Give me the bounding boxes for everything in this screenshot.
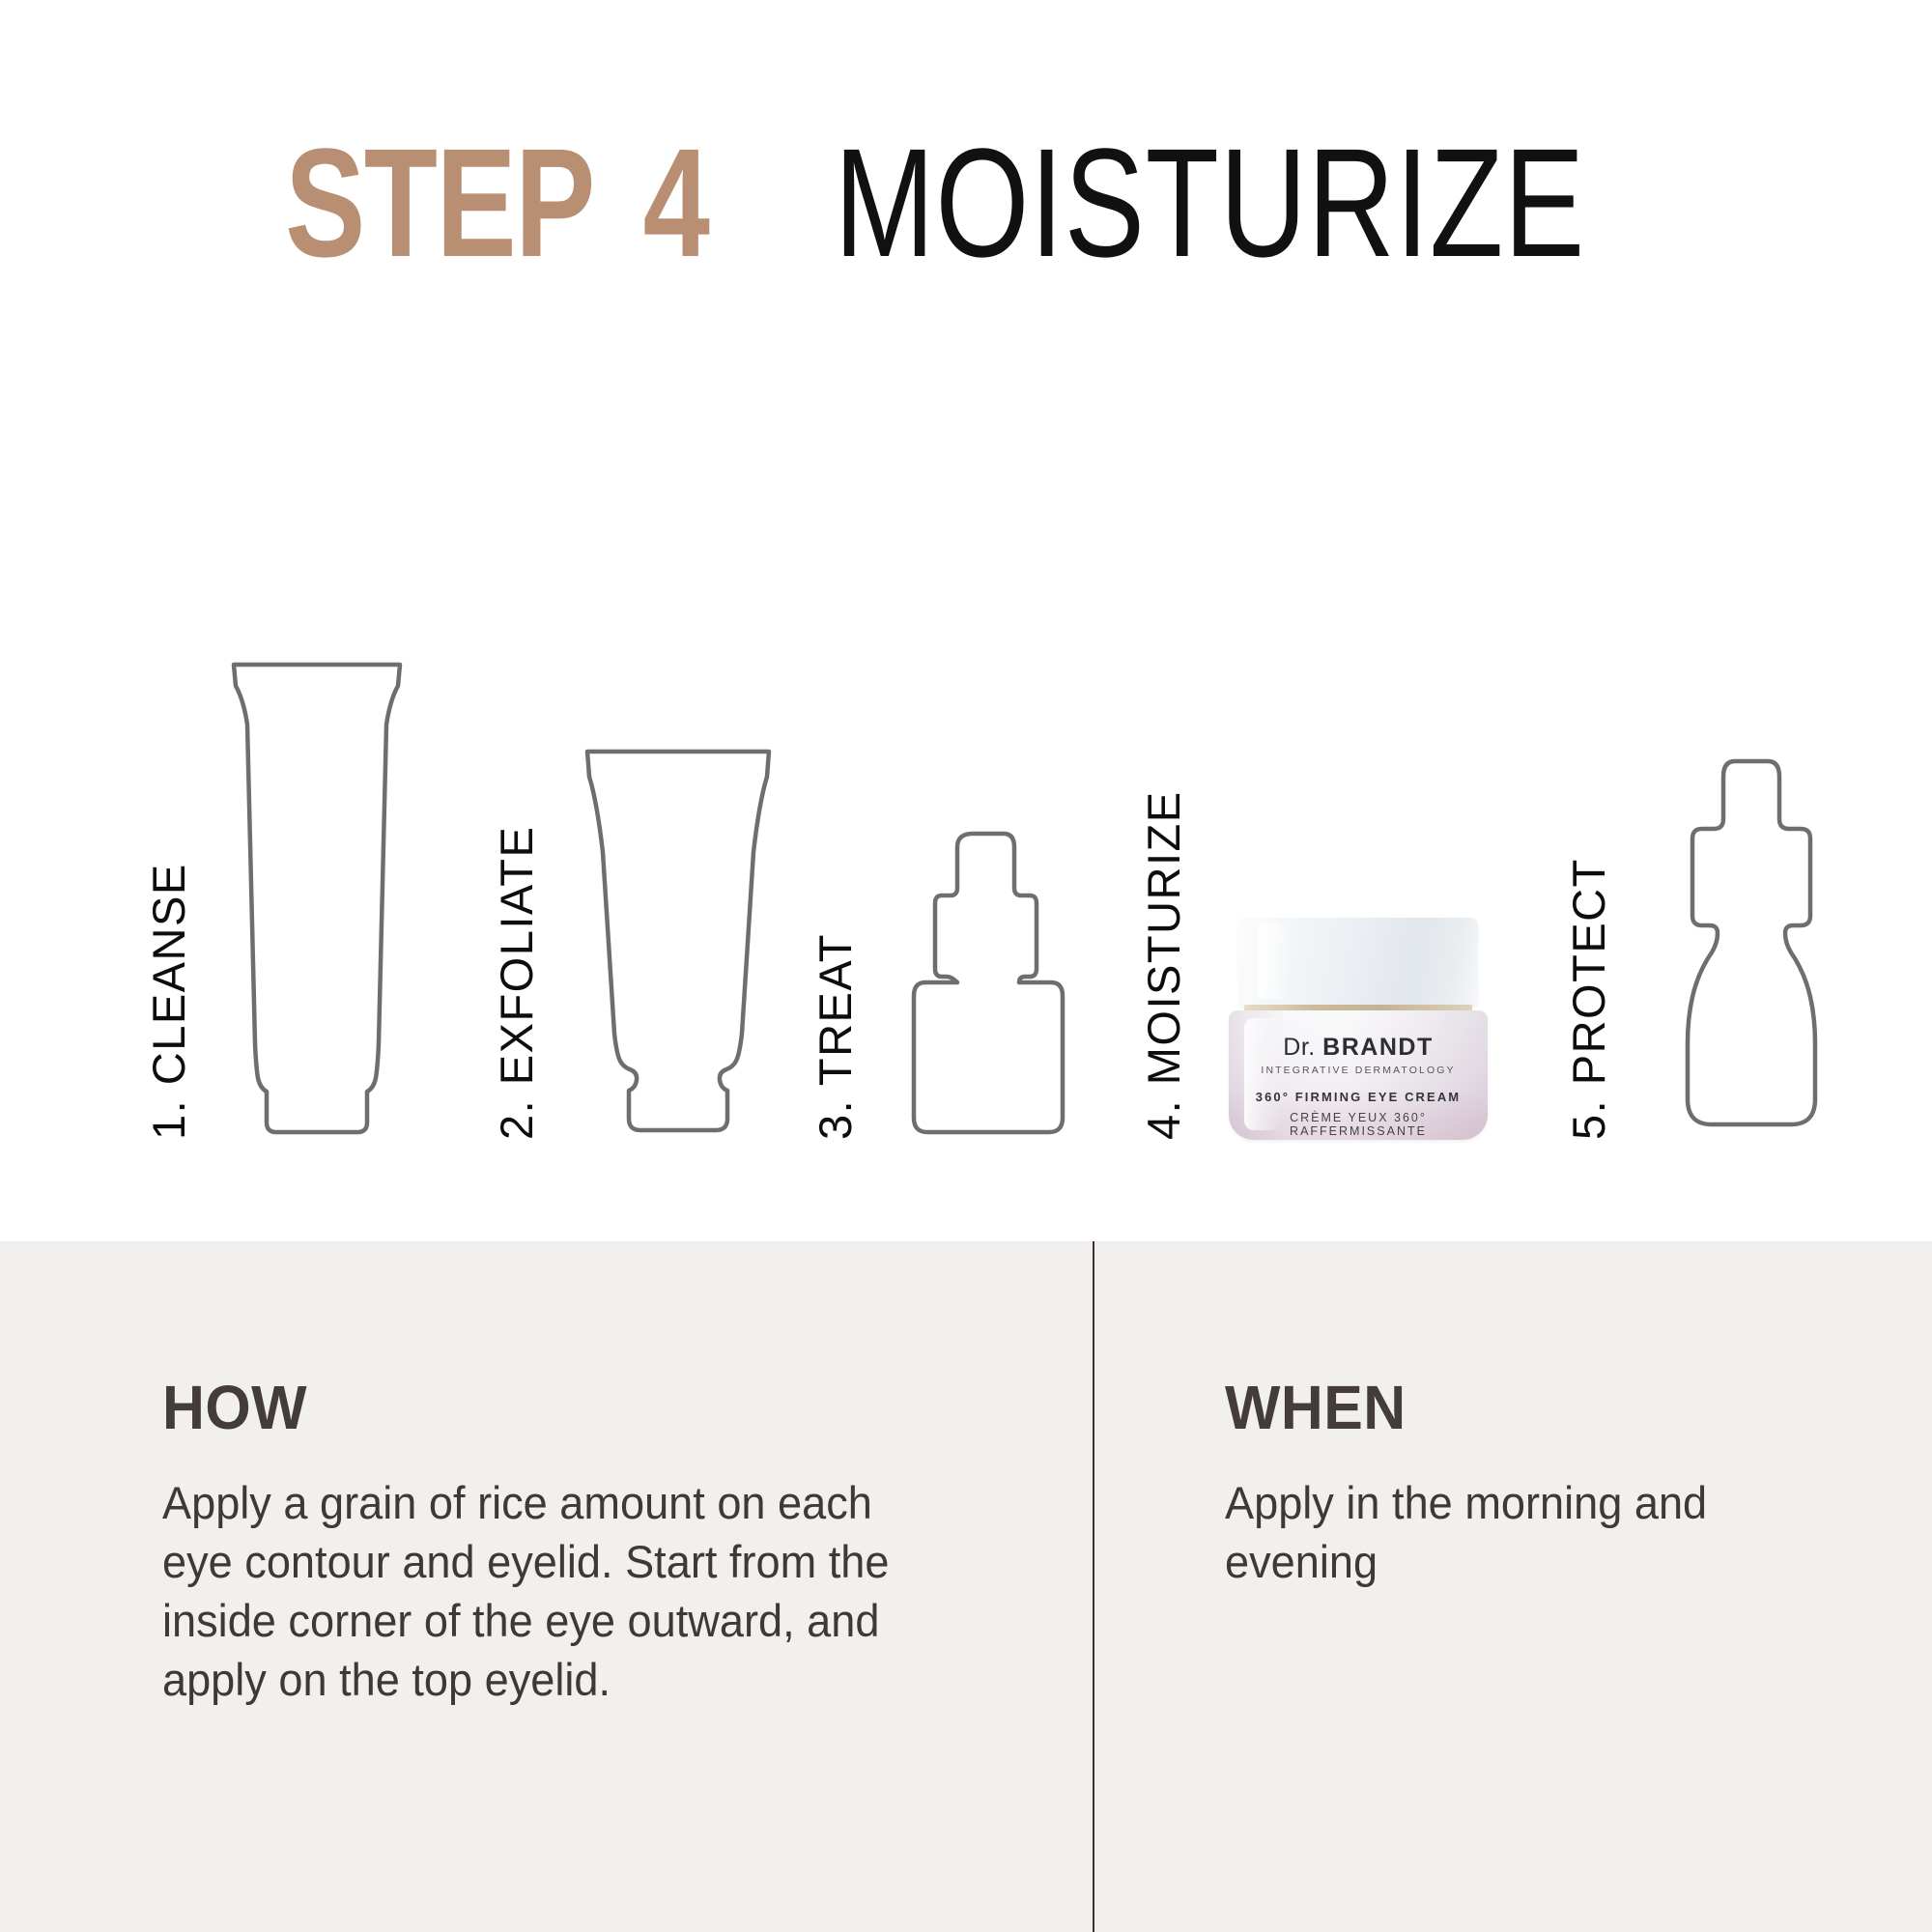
tube-tall-icon — [220, 657, 413, 1140]
jar-tagline: INTEGRATIVE DERMATOLOGY — [1229, 1065, 1488, 1076]
jar-brand-lockup: Dr. BRANDT — [1229, 1034, 1488, 1062]
how-body-text: Apply a grain of rice amount on each eye… — [162, 1473, 895, 1709]
when-column: WHEN Apply in the morning and evening — [1225, 1377, 1862, 1591]
jar-product-name-en: 360° FIRMING EYE CREAM — [1229, 1090, 1488, 1104]
title-main-word: MOISTURIZE — [834, 126, 1584, 280]
how-heading: HOW — [162, 1377, 888, 1438]
jar-lid-highlight — [1258, 923, 1291, 999]
title-step-word: STEP — [285, 126, 594, 280]
routine-step-label: 3. TREAT — [809, 933, 862, 1140]
title-step-number: 4 — [643, 126, 709, 280]
tube-short-icon — [572, 744, 784, 1140]
jar-base: Dr. BRANDT INTEGRATIVE DERMATOLOGY 360° … — [1229, 1010, 1488, 1140]
routine-step-label: 5. PROTECT — [1562, 858, 1615, 1140]
dropper-small-icon — [896, 826, 1080, 1140]
page-title: STEP 4 MOISTURIZE — [0, 126, 1932, 280]
jar-brand-prefix: Dr. — [1283, 1034, 1315, 1061]
instructions-panel: HOW Apply a grain of rice amount on each… — [0, 1241, 1932, 1932]
routine-step-label: 2. EXFOLIATE — [490, 826, 543, 1140]
routine-step-label: 4. MOISTURIZE — [1137, 790, 1190, 1140]
routine-row: 1. CLEANSE 2. EXFOLIATE 3. TREAT 4. MOIS… — [0, 483, 1932, 1140]
jar-product-name-fr: CRÈME YEUX 360° RAFFERMISSANTE — [1229, 1111, 1488, 1138]
how-column: HOW Apply a grain of rice amount on each… — [162, 1377, 925, 1709]
dropper-tall-icon — [1650, 753, 1853, 1140]
when-heading: WHEN — [1225, 1377, 1831, 1438]
jar-lid — [1238, 918, 1478, 1007]
when-body-text: Apply in the morning and evening — [1225, 1473, 1837, 1591]
jar-brand-name: BRANDT — [1322, 1034, 1434, 1061]
panel-divider — [1093, 1241, 1094, 1932]
routine-step-label: 1. CLEANSE — [142, 863, 195, 1140]
